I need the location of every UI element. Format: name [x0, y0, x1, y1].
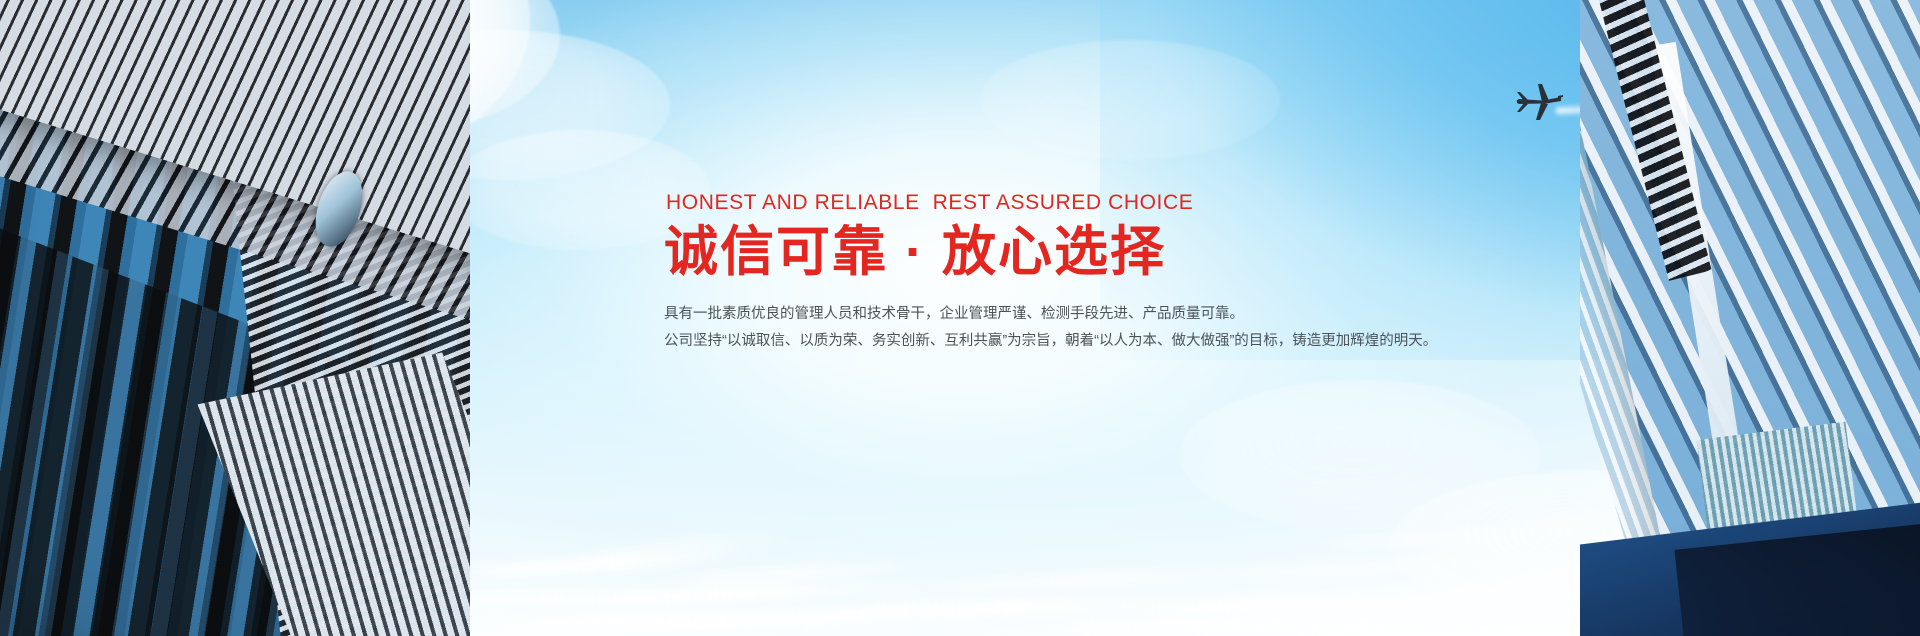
- hero-description: 具有一批素质优良的管理人员和技术骨干，企业管理严谨、检测手段先进、产品质量可靠。…: [664, 301, 1664, 355]
- left-building-image: [0, 0, 470, 636]
- hero-description-line: 具有一批素质优良的管理人员和技术骨干，企业管理严谨、检测手段先进、产品质量可靠。: [664, 301, 1664, 328]
- cumulus-cloud: [980, 40, 1280, 160]
- hero-text-block: HONEST AND RELIABLE REST ASSURED CHOICE …: [664, 190, 1664, 355]
- airplane-icon: [1511, 82, 1563, 122]
- hero-banner: HONEST AND RELIABLE REST ASSURED CHOICE …: [0, 0, 1920, 636]
- hero-description-line: 公司坚持“以诚取信、以质为荣、务实创新、互利共赢”为宗旨，朝着“以人为本、做大做…: [664, 328, 1664, 355]
- hero-headline: 诚信可靠 · 放心选择: [664, 222, 1664, 282]
- hero-eyebrow: HONEST AND RELIABLE REST ASSURED CHOICE: [666, 190, 1664, 216]
